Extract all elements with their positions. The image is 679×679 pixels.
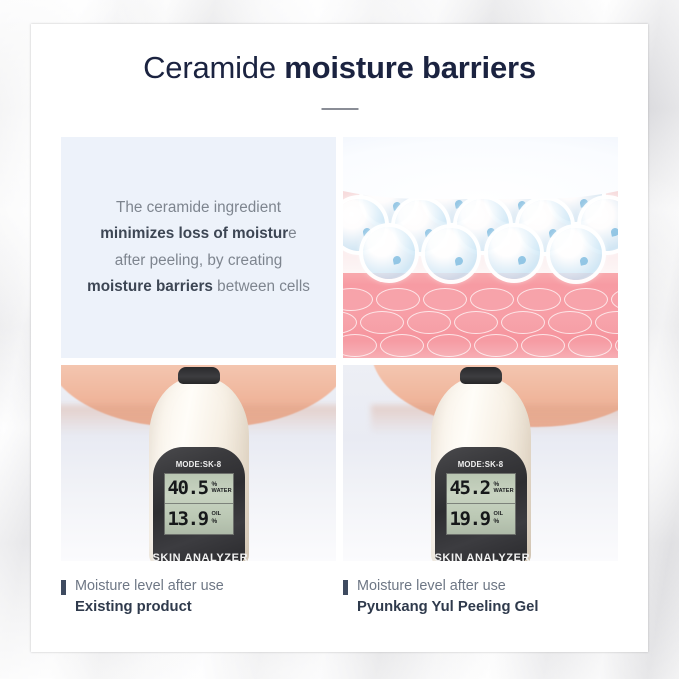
oil-value: 19.9 xyxy=(450,510,490,529)
water-unit-label: WATER xyxy=(494,489,514,495)
probe-tip xyxy=(178,367,220,384)
page-title-light: Ceramide xyxy=(143,50,284,85)
moisture-droplet-icon xyxy=(550,228,602,280)
brand-label: SKIN ANALYZER xyxy=(153,552,245,561)
water-unit-percent: % xyxy=(494,482,500,489)
description-line-2-tail: e xyxy=(288,225,297,242)
lcd-water-row: 40.5 % WATER xyxy=(165,474,233,504)
title-divider xyxy=(321,108,358,110)
bottom-row: MODE:SK-8 40.5 % WATER 13.9 xyxy=(61,365,618,561)
caption-right: Moisture level after use Pyunkang Yul Pe… xyxy=(343,577,618,618)
skin-cross-section-illustration xyxy=(343,137,618,358)
dermal-cell-row xyxy=(343,334,618,355)
brand-label: SKIN ANALYZER xyxy=(435,552,527,561)
caption-right-subtitle: Moisture level after use xyxy=(357,577,538,596)
water-value: 45.2 xyxy=(450,479,490,498)
description-line-2-bold: minimizes loss of moistur xyxy=(100,225,288,242)
page-title: Ceramide moisture barriers xyxy=(31,51,648,85)
oil-value: 13.9 xyxy=(168,510,208,529)
oil-unit-percent: % xyxy=(212,519,218,526)
caption-row: Moisture level after use Existing produc… xyxy=(61,577,618,618)
page-title-bold: moisture barriers xyxy=(284,50,536,85)
description-line-4-bold: moisture barriers xyxy=(87,278,213,295)
description-text: The ceramide ingredient minimizes loss o… xyxy=(81,195,316,300)
description-panel: The ceramide ingredient minimizes loss o… xyxy=(61,137,336,358)
caption-left: Moisture level after use Existing produc… xyxy=(61,577,336,618)
lcd-oil-row: 13.9 OIL % xyxy=(165,504,233,534)
description-line-1: The ceramide ingredient xyxy=(116,199,281,216)
caption-right-title: Pyunkang Yul Peeling Gel xyxy=(357,598,538,618)
caption-marker-icon xyxy=(61,580,66,595)
caption-left-subtitle: Moisture level after use xyxy=(75,577,224,596)
moisture-droplet-icon xyxy=(363,227,415,279)
water-value: 40.5 xyxy=(168,479,208,498)
water-unit-label: WATER xyxy=(212,489,232,495)
device-front-panel: MODE:SK-8 45.2 % WATER 19.9 xyxy=(435,447,527,561)
panel-grid: The ceramide ingredient minimizes loss o… xyxy=(61,137,618,561)
content-card: Ceramide moisture barriers The ceramide … xyxy=(31,24,648,652)
photo-skin-analyzer-right: MODE:SK-8 45.2 % WATER 19.9 xyxy=(343,365,618,561)
description-line-4-tail: between cells xyxy=(213,278,310,295)
probe-tip xyxy=(460,367,502,384)
dermal-cell-row xyxy=(343,311,613,332)
lcd-display: 45.2 % WATER 19.9 OIL % xyxy=(446,473,516,535)
mode-label: MODE:SK-8 xyxy=(435,460,527,469)
mode-label: MODE:SK-8 xyxy=(153,460,245,469)
description-line-3: after peeling, by creating xyxy=(115,252,283,269)
lcd-display: 40.5 % WATER 13.9 OIL % xyxy=(164,473,234,535)
device-front-panel: MODE:SK-8 40.5 % WATER 13.9 xyxy=(153,447,245,561)
caption-marker-icon xyxy=(343,580,348,595)
skin-surface-dome xyxy=(343,137,618,199)
caption-left-title: Existing product xyxy=(75,598,224,618)
moisture-droplet-icon xyxy=(488,227,540,279)
water-unit-percent: % xyxy=(212,482,218,489)
lcd-water-row: 45.2 % WATER xyxy=(447,474,515,504)
top-row: The ceramide ingredient minimizes loss o… xyxy=(61,137,618,358)
moisture-droplet-icon xyxy=(425,228,477,280)
photo-skin-analyzer-left: MODE:SK-8 40.5 % WATER 13.9 xyxy=(61,365,336,561)
marble-frame-background: Ceramide moisture barriers The ceramide … xyxy=(0,0,679,679)
oil-unit-percent: % xyxy=(494,519,500,526)
lcd-oil-row: 19.9 OIL % xyxy=(447,504,515,534)
